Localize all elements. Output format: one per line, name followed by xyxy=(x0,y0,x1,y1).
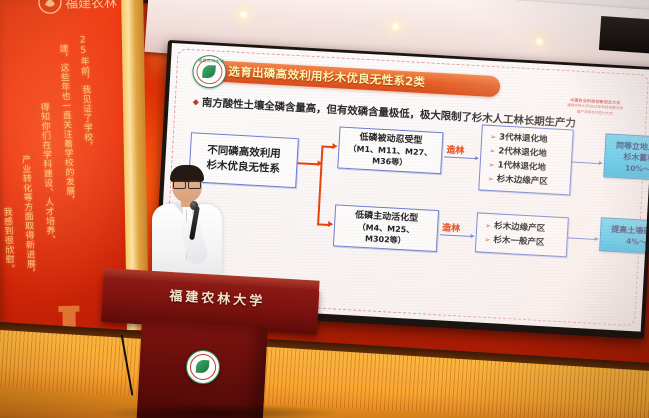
connector-outcome-2-arrowhead xyxy=(595,236,599,240)
arrow-bullet-icon: ➢ xyxy=(490,130,497,144)
connector-type2-arrowhead xyxy=(471,233,475,237)
lectern-floor-shadow xyxy=(100,404,340,418)
connector-sites-top-to-outcome xyxy=(572,162,600,165)
flow-type-node-1: 低磷被动忍受型 （M1、M11、M27、 M36等） xyxy=(337,126,443,174)
banner-line-1: 25年前，我见证了学校， xyxy=(77,35,91,127)
arrow-bullet-icon: ➢ xyxy=(488,158,495,172)
connector-sites-bottom-to-outcome xyxy=(568,237,596,240)
flow-type-node-2: 低磷主动活化型 （M4、M25、 M302等） xyxy=(333,204,439,252)
side-monitor xyxy=(599,16,649,54)
lectern-cable xyxy=(121,334,134,395)
flow-outcome-node-1: 同等立地上比传统 杉木蓄积提高 10%～15% xyxy=(603,133,649,182)
svg-text:福建农林大学: 福建农林大学 xyxy=(65,0,119,12)
banner-university-logo: 福建农林大学 xyxy=(32,0,119,27)
flow-sites-node-top: ➢3代林退化地 ➢2代林退化地 ➢1代林退化地 ➢杉木边缘产区 xyxy=(478,124,574,195)
connector-type2-to-sites xyxy=(440,234,472,237)
flow-type-1-clones-cont: M36等） xyxy=(372,155,408,168)
banner-line-4: 产业转化等方面取得新进展， xyxy=(20,155,35,267)
connector-root-stem xyxy=(297,162,317,165)
ceiling-downlight xyxy=(534,36,545,47)
edge-label-afforestation-2: 造林 xyxy=(442,220,461,234)
ceiling-downlight xyxy=(238,9,249,20)
connector-type1-arrowhead xyxy=(475,156,479,160)
connector-outcome-1-arrowhead xyxy=(599,161,603,165)
connector-branch-top-arrowhead xyxy=(332,143,337,149)
flow-type-2-clones-cont: M302等） xyxy=(365,233,406,246)
connector-type1-to-sites xyxy=(444,156,476,159)
outcome-1-value: 10%～15% xyxy=(625,162,649,175)
site-label: 杉木边缘产区 xyxy=(496,172,548,189)
arrow-bullet-icon: ➢ xyxy=(485,219,492,233)
site-label: 杉木一般产区 xyxy=(493,233,545,250)
connector-split-vertical xyxy=(317,146,323,226)
edge-label-afforestation-1: 造林 xyxy=(446,142,465,156)
speaker-glasses xyxy=(173,180,201,188)
banner-line-2: 建，这些年也一直关注着学校的发展， xyxy=(57,44,73,162)
microphone-head xyxy=(190,201,198,210)
flow-sites-node-bottom: ➢杉木边缘产区 ➢杉木一般产区 xyxy=(475,212,569,257)
banner-line-3: 得知你们在学科建设、人才培养、 xyxy=(38,102,54,226)
ceiling-downlight xyxy=(390,21,401,32)
arrow-bullet-icon: ➢ xyxy=(489,144,496,158)
arrow-bullet-icon: ➢ xyxy=(484,233,491,247)
banner-line-5: 我感到很欣慰。 xyxy=(1,207,14,279)
presentation-photo: 福建农林大学 25年前，我见证了学校， 建，这些年也一直关注着学校的发展， 得知… xyxy=(0,0,649,418)
lectern: 福建农林大学 xyxy=(104,268,326,418)
flow-outcome-node-2: 提高土壤磷利用率 4%～6% xyxy=(599,217,649,256)
arrow-bullet-icon: ➢ xyxy=(488,172,495,186)
connector-branch-bottom-arrowhead xyxy=(328,221,333,227)
